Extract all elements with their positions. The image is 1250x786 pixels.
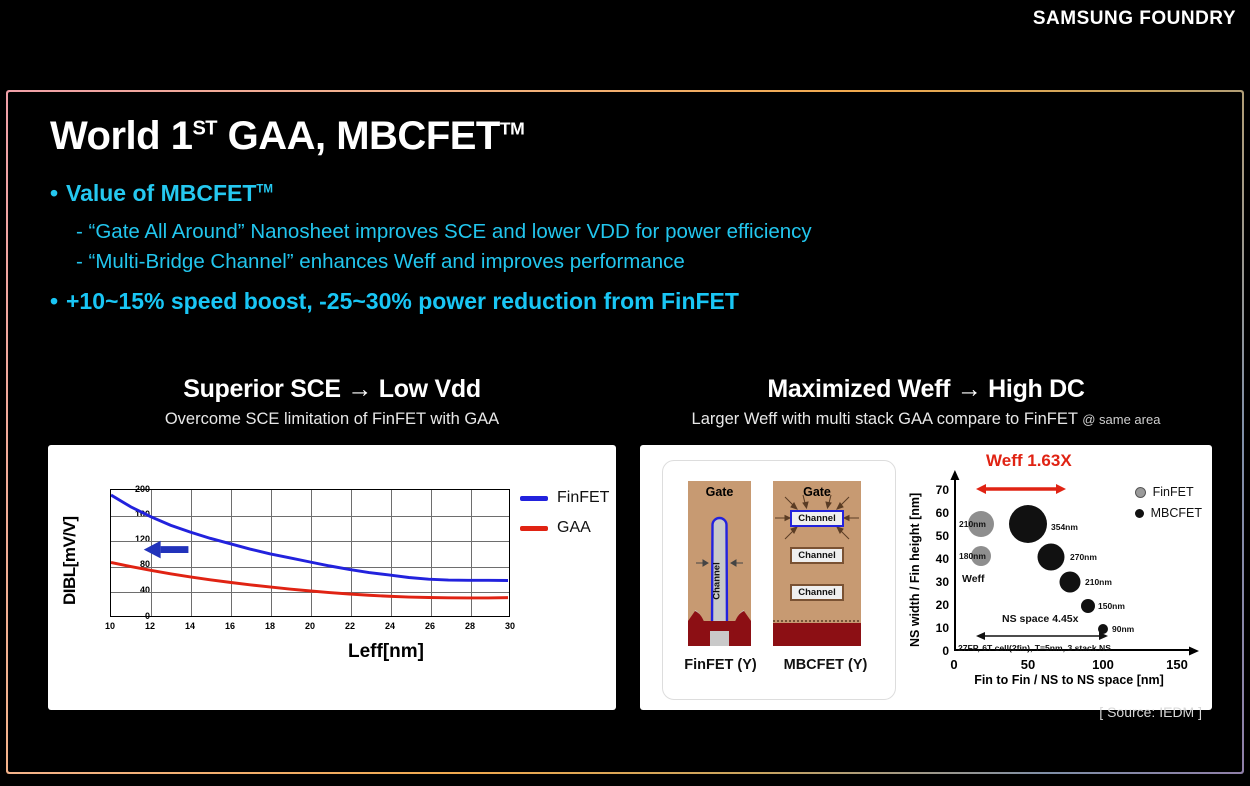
- left-column-heading: Superior SCE → Low Vdd Overcome SCE limi…: [48, 375, 616, 429]
- left-chart-card: DIBL[mV/V] 200 160 120 80 40 0: [48, 445, 616, 710]
- weff-xtick-100: 100: [1090, 657, 1116, 672]
- page-title-rest: GAA, MBCFET: [217, 114, 500, 158]
- blue-left-arrow-icon: [144, 541, 189, 559]
- right-chart-card: Gate Channel: [640, 445, 1212, 710]
- mbcfet-channel-3: Channel: [790, 584, 844, 601]
- slide-root: SAMSUNG FOUNDRY World 1ST GAA, MBCFETTM …: [0, 0, 1250, 786]
- finfet-cross-section: Gate Channel: [688, 481, 751, 646]
- weff-ytick-20: 20: [927, 598, 949, 612]
- dibl-xtick-14: 14: [178, 621, 202, 631]
- finfet-fin-shape: Channel: [688, 481, 751, 646]
- sub-bullet-gate-all-around: - “Gate All Around” Nanosheet improves S…: [76, 220, 812, 244]
- weff-red-arrow-icon: [976, 481, 1086, 497]
- weff-annotation: Weff: [962, 573, 985, 585]
- trademark-symbol: TM: [500, 119, 524, 139]
- bubble-label-finfet-210: 210nm: [959, 519, 986, 529]
- right-subheading-note: @ same area: [1082, 412, 1160, 427]
- mbcfet-channel-1: Channel: [790, 510, 844, 527]
- bubble-mbcfet-90: [1098, 624, 1108, 634]
- series-finfet-line: [111, 495, 508, 581]
- weff-legend-dot-finfet: [1135, 487, 1146, 498]
- device-cross-section-panel: Gate Channel: [662, 460, 896, 700]
- sub-bullet-multi-bridge-channel: - “Multi-Bridge Channel” enhances Weff a…: [76, 250, 685, 274]
- dibl-line-chart: DIBL[mV/V] 200 160 120 80 40 0: [48, 445, 616, 710]
- weff-title: Weff 1.63X: [986, 451, 1072, 471]
- dibl-xtick-10: 10: [98, 621, 122, 631]
- trademark-symbol-2: TM: [256, 183, 273, 195]
- dibl-legend: FinFET GAA: [520, 489, 609, 549]
- page-title-ordinal: ST: [192, 118, 217, 140]
- weff-x-axis-label: Fin to Fin / NS to NS space [nm]: [944, 673, 1194, 687]
- samsung-foundry-logo: SAMSUNG FOUNDRY: [1033, 8, 1236, 30]
- dibl-plot-area: [110, 489, 510, 617]
- weff-y-axis-label: NS width / Fin height [nm]: [908, 475, 928, 665]
- dibl-xtick-16: 16: [218, 621, 242, 631]
- weff-xtick-150: 150: [1164, 657, 1190, 672]
- legend-swatch-gaa: [520, 526, 548, 531]
- right-subheading-text: Larger Weff with multi stack GAA compare…: [640, 410, 1212, 429]
- page-title-main: World 1: [50, 114, 192, 158]
- weff-ytick-60: 60: [927, 506, 949, 520]
- dibl-y-axis-label: DIBL[mV/V]: [60, 491, 86, 631]
- bubble-mbcfet-354: [1009, 505, 1047, 543]
- bubble-mbcfet-150: [1081, 599, 1095, 613]
- right-subheading-main: Larger Weff with multi stack GAA compare…: [692, 410, 1078, 428]
- legend-label-gaa: GAA: [557, 519, 591, 537]
- dibl-xtick-18: 18: [258, 621, 282, 631]
- bullet-dot-icon: •: [50, 180, 66, 207]
- content-frame: World 1ST GAA, MBCFETTM •Value of MBCFET…: [6, 90, 1244, 774]
- weff-legend: FinFET MBCFET: [1135, 485, 1202, 527]
- dibl-xtick-20: 20: [298, 621, 322, 631]
- bullet2-label: +10~15% speed boost, -25~30% power reduc…: [66, 288, 739, 314]
- bubble-label-mbcfet-270: 270nm: [1070, 552, 1097, 562]
- weff-legend-item-finfet: FinFET: [1135, 485, 1202, 499]
- ns-space-arrow-icon: [976, 629, 1116, 643]
- right-column-heading: Maximized Weff → High DC Larger Weff wit…: [640, 375, 1212, 429]
- bubble-mbcfet-270: [1038, 544, 1065, 571]
- dibl-xtick-30: 30: [498, 621, 522, 631]
- legend-item-gaa: GAA: [520, 519, 609, 537]
- legend-swatch-finfet: [520, 496, 548, 501]
- bubble-label-finfet-180: 180nm: [959, 551, 986, 561]
- dibl-xtick-28: 28: [458, 621, 482, 631]
- weff-footnote: 27FP, 6T cell(2fin), T=5nm, 3 stack NS: [958, 643, 1111, 653]
- ns-space-annotation: NS space 4.45x: [1002, 613, 1078, 625]
- weff-xtick-50: 50: [1015, 657, 1041, 672]
- bullet-value-of-mbcfet: •Value of MBCFETTM: [50, 180, 273, 207]
- weff-legend-label-finfet: FinFET: [1153, 485, 1194, 499]
- page-title: World 1ST GAA, MBCFETTM: [50, 114, 524, 159]
- dibl-xtick-22: 22: [338, 621, 362, 631]
- dibl-xtick-24: 24: [378, 621, 402, 631]
- weff-ytick-30: 30: [927, 575, 949, 589]
- source-note: [ Source: IEDM ]: [1099, 704, 1202, 720]
- weff-xtick-0: 0: [941, 657, 967, 672]
- weff-ytick-10: 10: [927, 621, 949, 635]
- weff-legend-item-mbcfet: MBCFET: [1135, 506, 1202, 520]
- mbcfet-channel-2: Channel: [790, 547, 844, 564]
- bubble-label-mbcfet-354: 354nm: [1051, 522, 1078, 532]
- bubble-mbcfet-210: [1060, 572, 1081, 593]
- dibl-series-svg: [111, 490, 508, 615]
- weff-ytick-0: 0: [927, 644, 949, 658]
- weff-ytick-40: 40: [927, 552, 949, 566]
- svg-text:Channel: Channel: [712, 562, 723, 599]
- bullet-dot-icon-2: •: [50, 288, 66, 315]
- bubble-label-mbcfet-150: 150nm: [1098, 601, 1125, 611]
- content-frame-inner: World 1ST GAA, MBCFETTM •Value of MBCFET…: [8, 92, 1242, 772]
- weff-scatter-chart: Weff 1.63X NS width / Fin height [nm] Fi…: [908, 455, 1204, 703]
- right-heading-text: Maximized Weff → High DC: [640, 375, 1212, 404]
- legend-item-finfet: FinFET: [520, 489, 609, 507]
- finfet-caption: FinFET (Y): [673, 657, 768, 673]
- dibl-xtick-26: 26: [418, 621, 442, 631]
- weff-legend-label-mbcfet: MBCFET: [1151, 506, 1202, 520]
- dibl-x-axis-label: Leff[nm]: [348, 641, 424, 663]
- bubble-label-mbcfet-210: 210nm: [1085, 577, 1112, 587]
- bullet-speed-power: •+10~15% speed boost, -25~30% power redu…: [50, 288, 739, 315]
- left-heading-text: Superior SCE → Low Vdd: [48, 375, 616, 404]
- mbcfet-caption: MBCFET (Y): [768, 657, 883, 673]
- mbcfet-cross-section: Gate: [773, 481, 861, 646]
- bubble-label-mbcfet-90: 90nm: [1112, 624, 1134, 634]
- left-subheading-text: Overcome SCE limitation of FinFET with G…: [48, 410, 616, 429]
- weff-legend-dot-mbcfet: [1135, 509, 1144, 518]
- dibl-xtick-12: 12: [138, 621, 162, 631]
- weff-ytick-50: 50: [927, 529, 949, 543]
- weff-ytick-70: 70: [927, 483, 949, 497]
- bullet1-label: Value of MBCFET: [66, 180, 256, 206]
- legend-label-finfet: FinFET: [557, 489, 609, 507]
